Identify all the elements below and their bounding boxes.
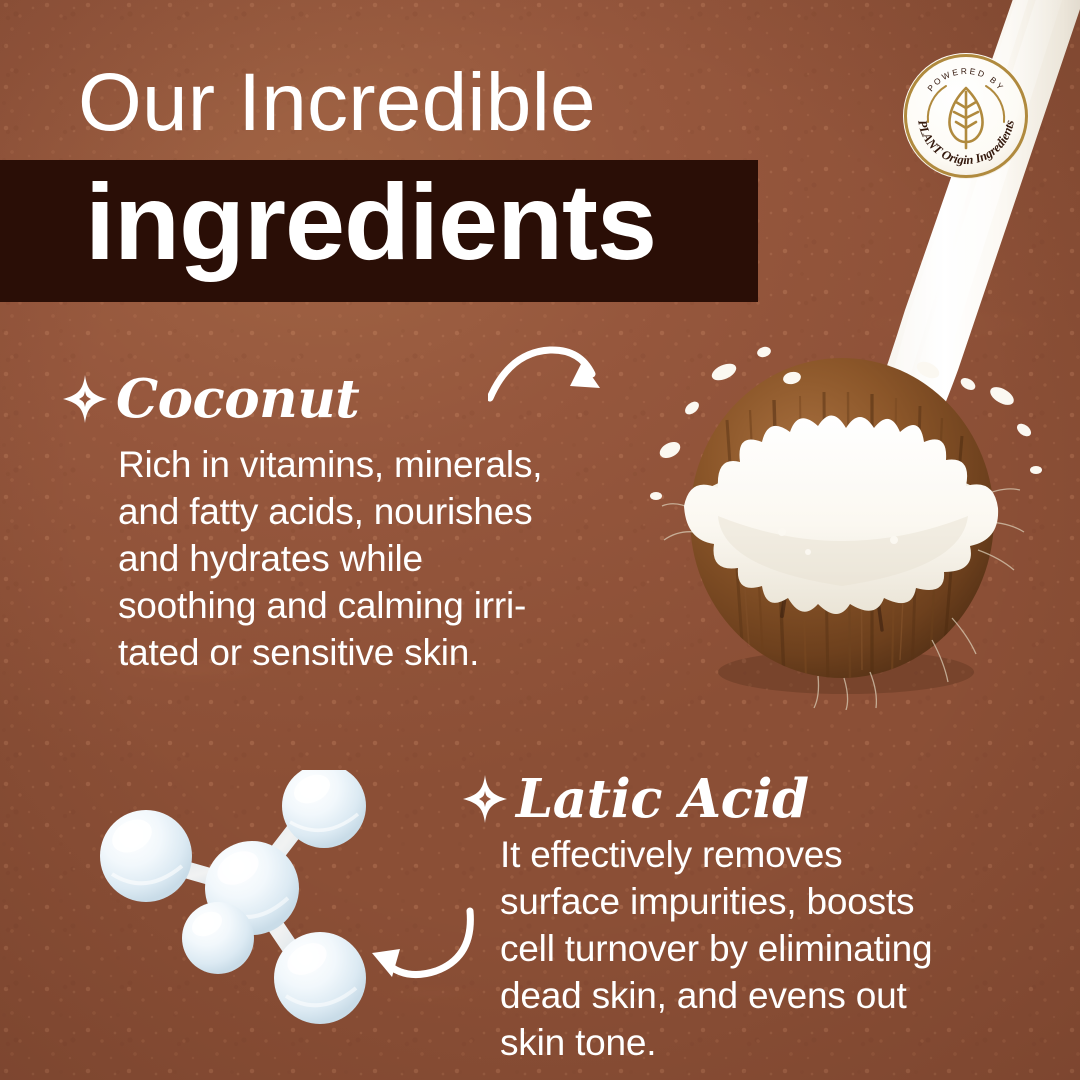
latic-body-line-3: cell turnover by eliminating [500,926,932,973]
headline-line-2: ingredients [85,168,656,276]
plant-origin-badge: POWERED BY PLANT Origin Ingredients [902,52,1030,180]
sparkle-icon [62,374,108,424]
ingredient-title-coconut: Coconut [62,368,359,430]
ingredient-body-latic-acid: It effectively removes surface impuritie… [500,832,932,1067]
coconut-milk-splash-image [632,300,1052,710]
headline-line-1: Our Incredible [78,62,596,144]
ingredient-title-coconut-label: Coconut [116,368,359,430]
ingredient-body-coconut: Rich in vitamins, minerals, and fatty ac… [118,442,542,677]
curved-arrow-left-icon [352,905,476,987]
coconut-body-line-4: soothing and calming irri- [118,583,542,630]
ingredient-title-latic-acid: Latic Acid [462,768,809,830]
coconut-body-line-2: and fatty acids, nourishes [118,489,542,536]
coconut-body-line-5: tated or sensitive skin. [118,630,542,677]
ingredients-poster: POWERED BY PLANT Origin Ingredients [0,0,1080,1080]
sparkle-icon [462,774,508,824]
coconut-body-line-1: Rich in vitamins, minerals, [118,442,542,489]
latic-body-line-1: It effectively removes [500,832,932,879]
curved-arrow-right-icon [488,340,612,408]
latic-body-line-5: skin tone. [500,1020,932,1067]
ingredient-title-latic-acid-label: Latic Acid [516,768,809,830]
latic-body-line-4: dead skin, and evens out [500,973,932,1020]
latic-body-line-2: surface impurities, boosts [500,879,932,926]
coconut-body-line-3: and hydrates while [118,536,542,583]
